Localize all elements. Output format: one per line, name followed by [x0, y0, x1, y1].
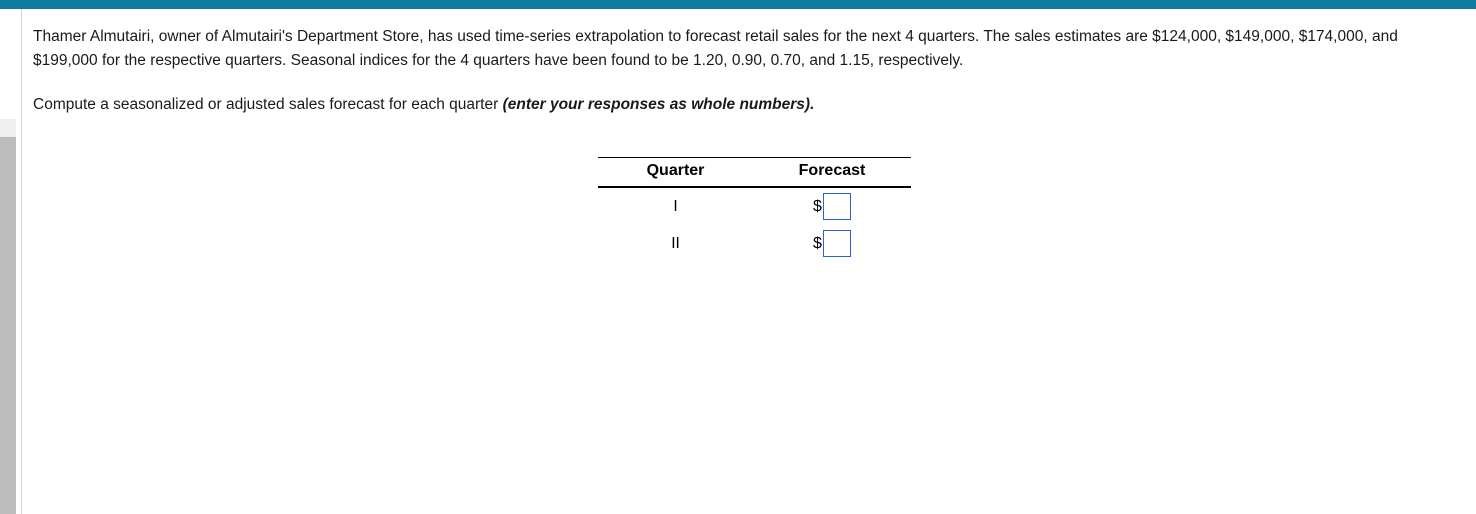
- scrollbar-thumb[interactable]: [0, 137, 16, 514]
- dollar-sign-icon: $: [813, 236, 822, 252]
- forecast-table-body: I $ II $: [598, 187, 911, 262]
- forecast-input-quarter-2[interactable]: [823, 230, 851, 257]
- cell-forecast-2: $: [753, 225, 911, 262]
- quarter-label: I: [673, 198, 677, 215]
- column-header-quarter: Quarter: [598, 158, 753, 188]
- instruction-text: Compute a seasonalized or adjusted sales…: [33, 96, 503, 113]
- money-input-group-1: $: [753, 193, 911, 220]
- vertical-scrollbar[interactable]: [0, 9, 16, 514]
- content-left-divider: [21, 9, 22, 514]
- top-accent-bar: [0, 0, 1476, 9]
- column-header-forecast: Forecast: [753, 158, 911, 188]
- instruction-paragraph: Compute a seasonalized or adjusted sales…: [33, 93, 1438, 117]
- instruction-note: (enter your responses as whole numbers).: [503, 96, 815, 113]
- problem-content: Thamer Almutairi, owner of Almutairi's D…: [33, 9, 1443, 133]
- table-header-row: Quarter Forecast: [598, 158, 911, 188]
- cell-quarter-2: II: [598, 225, 753, 262]
- exercise-page: Thamer Almutairi, owner of Almutairi's D…: [0, 0, 1476, 514]
- table-row: II $: [598, 225, 911, 262]
- forecast-table-wrapper: Quarter Forecast I $: [598, 157, 911, 262]
- forecast-table: Quarter Forecast I $: [598, 157, 911, 262]
- forecast-table-head: Quarter Forecast: [598, 158, 911, 188]
- dollar-sign-icon: $: [813, 199, 822, 215]
- scrollbar-track-middle[interactable]: [0, 119, 16, 137]
- table-row: I $: [598, 187, 911, 225]
- cell-quarter-1: I: [598, 187, 753, 225]
- problem-statement-paragraph: Thamer Almutairi, owner of Almutairi's D…: [33, 25, 1438, 73]
- scrollbar-track-upper[interactable]: [0, 9, 16, 119]
- cell-forecast-1: $: [753, 187, 911, 225]
- money-input-group-2: $: [753, 230, 911, 257]
- forecast-input-quarter-1[interactable]: [823, 193, 851, 220]
- quarter-label: II: [671, 235, 680, 252]
